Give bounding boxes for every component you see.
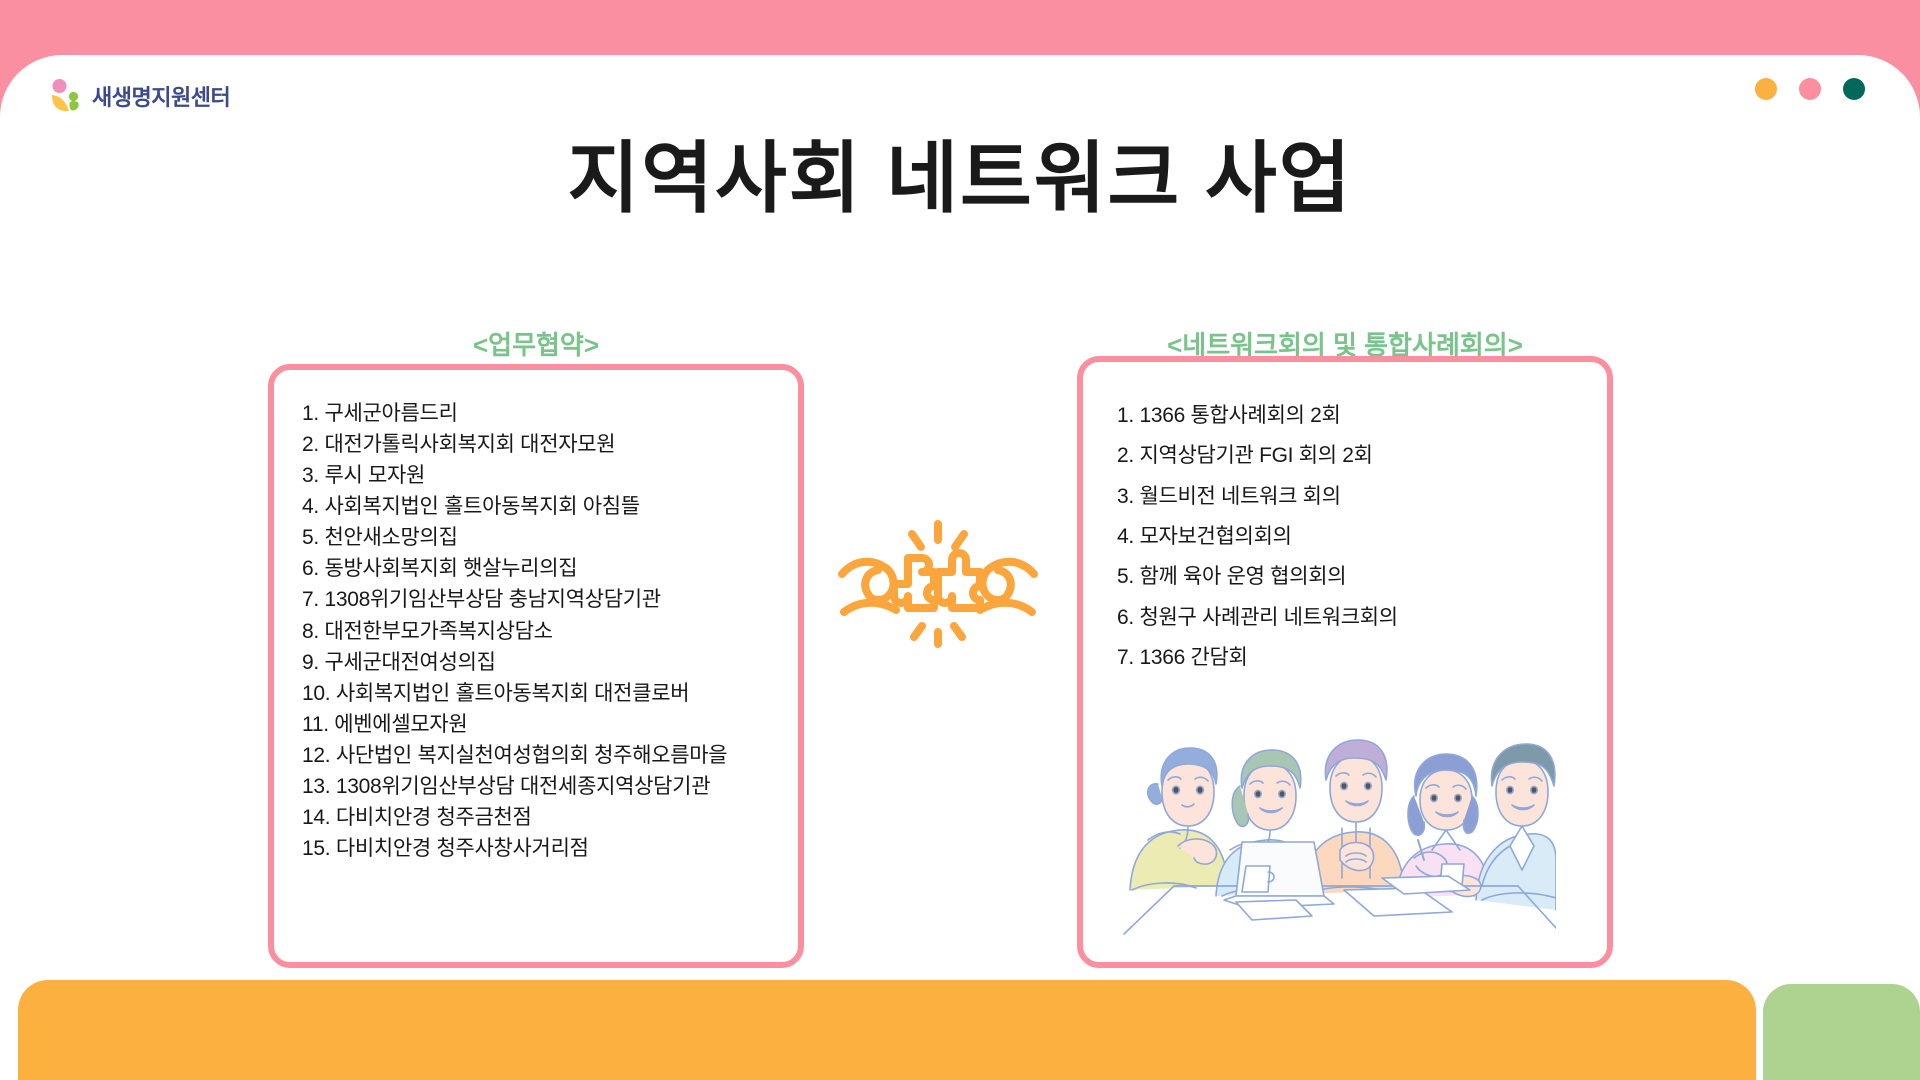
footer-bar-green bbox=[1763, 984, 1920, 1080]
puzzle-handshake-icon bbox=[838, 520, 1038, 648]
list-item: 7. 1366 간담회 bbox=[1117, 638, 1607, 678]
list-item: 14. 다비치안경 청주금천점 bbox=[302, 802, 798, 833]
list-item: 5. 천안새소망의집 bbox=[302, 522, 798, 553]
list-item: 10. 사회복지법인 홀트아동복지회 대전클로버 bbox=[302, 678, 798, 709]
list-item: 3. 월드비전 네트워크 회의 bbox=[1117, 477, 1607, 517]
list-item: 4. 모자보건협의회의 bbox=[1117, 517, 1607, 557]
list-item: 4. 사회복지법인 홀트아동복지회 아침뜰 bbox=[302, 491, 798, 522]
parent-child-logo-icon bbox=[48, 78, 82, 114]
list-item: 3. 루시 모자원 bbox=[302, 460, 798, 491]
section-heading-left: <업무협약> bbox=[268, 325, 804, 362]
agreement-list: 1. 구세군아름드리 2. 대전가톨릭사회복지회 대전자모원 3. 루시 모자원… bbox=[274, 370, 798, 864]
list-item: 15. 다비치안경 청주사창사거리점 bbox=[302, 833, 798, 864]
list-item: 9. 구세군대전여성의집 bbox=[302, 647, 798, 678]
list-item: 11. 에벤에셀모자원 bbox=[302, 709, 798, 740]
list-item: 5. 함께 육아 운영 협의회의 bbox=[1117, 557, 1607, 597]
meeting-list: 1. 1366 통합사례회의 2회 2. 지역상담기관 FGI 회의 2회 3.… bbox=[1083, 362, 1607, 678]
dot-pink bbox=[1799, 78, 1821, 100]
card-agreements: 1. 구세군아름드리 2. 대전가톨릭사회복지회 대전자모원 3. 루시 모자원… bbox=[268, 364, 804, 968]
page-title: 지역사회 네트워크 사업 bbox=[0, 130, 1920, 228]
list-item: 7. 1308위기임산부상담 충남지역상담기관 bbox=[302, 584, 798, 615]
list-item: 6. 청원구 사례관리 네트워크회의 bbox=[1117, 598, 1607, 638]
list-item: 12. 사단법인 복지실천여성협의회 청주해오름마을 bbox=[302, 740, 798, 771]
header-dots bbox=[1755, 78, 1865, 100]
meeting-people-illustration bbox=[1118, 700, 1556, 940]
list-item: 6. 동방사회복지회 햇살누리의집 bbox=[302, 553, 798, 584]
dot-green bbox=[1843, 78, 1865, 100]
list-item: 2. 대전가톨릭사회복지회 대전자모원 bbox=[302, 429, 798, 460]
list-item: 13. 1308위기임산부상담 대전세종지역상담기관 bbox=[302, 771, 798, 802]
brand-name: 새생명지원센터 bbox=[92, 80, 230, 112]
dot-yellow bbox=[1755, 78, 1777, 100]
list-item: 1. 구세군아름드리 bbox=[302, 398, 798, 429]
brand-logo: 새생명지원센터 bbox=[48, 76, 230, 116]
list-item: 2. 지역상담기관 FGI 회의 2회 bbox=[1117, 436, 1607, 476]
list-item: 8. 대전한부모가족복지상담소 bbox=[302, 616, 798, 647]
list-item: 1. 1366 통합사례회의 2회 bbox=[1117, 396, 1607, 436]
footer-bar-orange bbox=[18, 980, 1756, 1080]
slide-root: 새생명지원센터 지역사회 네트워크 사업 <업무협약> 1. 구세군아름드리 2… bbox=[0, 0, 1920, 1080]
